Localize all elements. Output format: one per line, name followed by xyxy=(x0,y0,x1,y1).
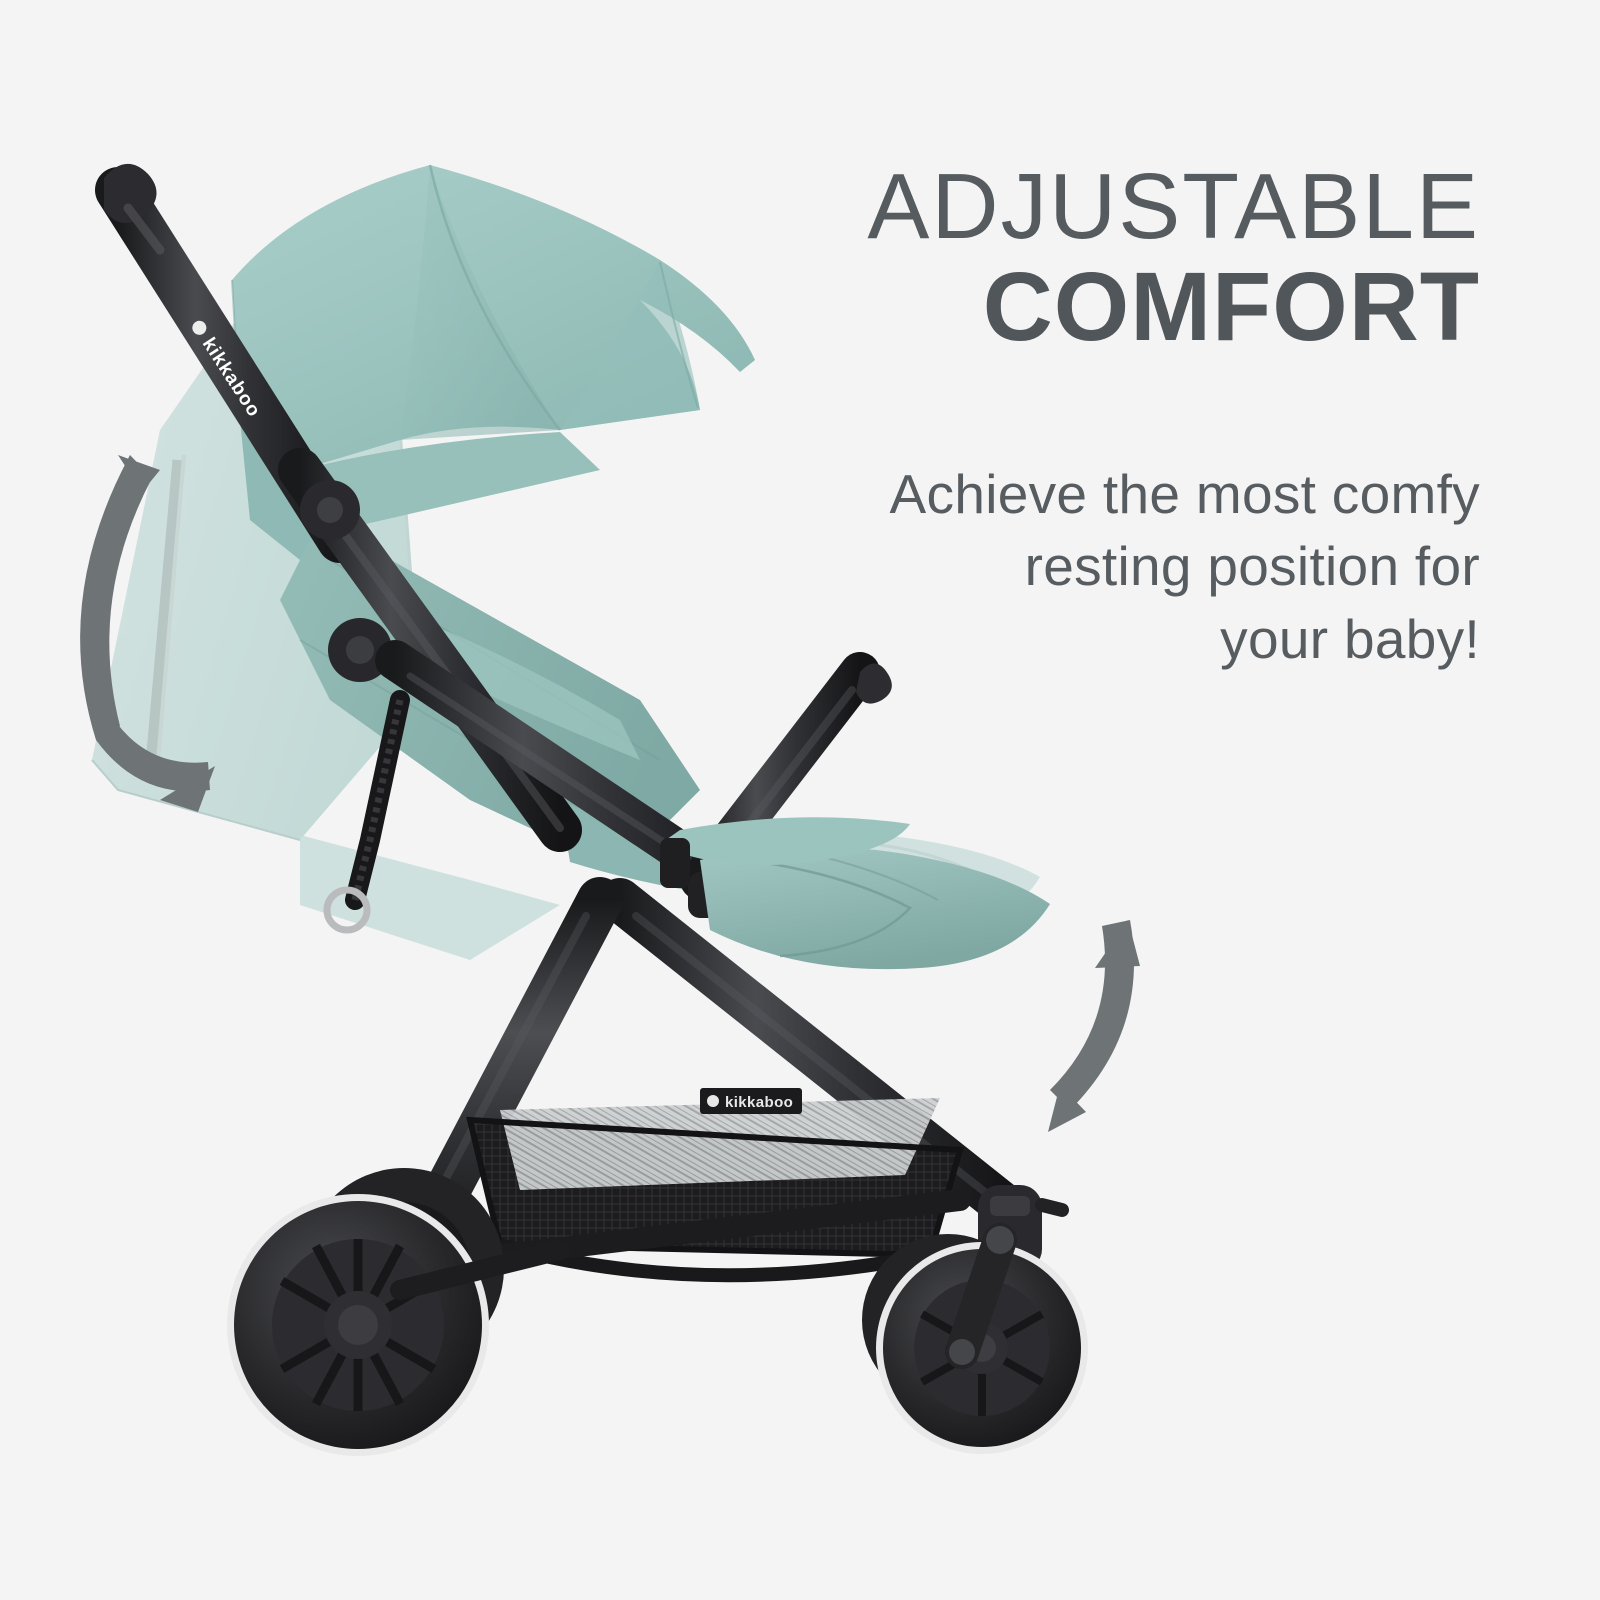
ghost-reclined-seat-pan xyxy=(300,835,560,960)
marketing-banner: kikkaboo xyxy=(0,0,1600,1600)
subcopy-line-3: your baby! xyxy=(760,603,1480,676)
text-panel: ADJUSTABLE COMFORT Achieve the most comf… xyxy=(760,160,1480,675)
footrest-adjust-arrow xyxy=(1048,920,1140,1132)
subcopy: Achieve the most comfy resting position … xyxy=(760,458,1480,676)
basket-brand-label: kikkaboo xyxy=(725,1094,793,1111)
subcopy-line-1: Achieve the most comfy xyxy=(760,458,1480,531)
headline-line-1: ADJUSTABLE xyxy=(760,160,1480,253)
headline-line-2: COMFORT xyxy=(760,253,1480,362)
footrest-cushion xyxy=(660,817,1050,969)
subcopy-line-2: resting position for xyxy=(760,530,1480,603)
